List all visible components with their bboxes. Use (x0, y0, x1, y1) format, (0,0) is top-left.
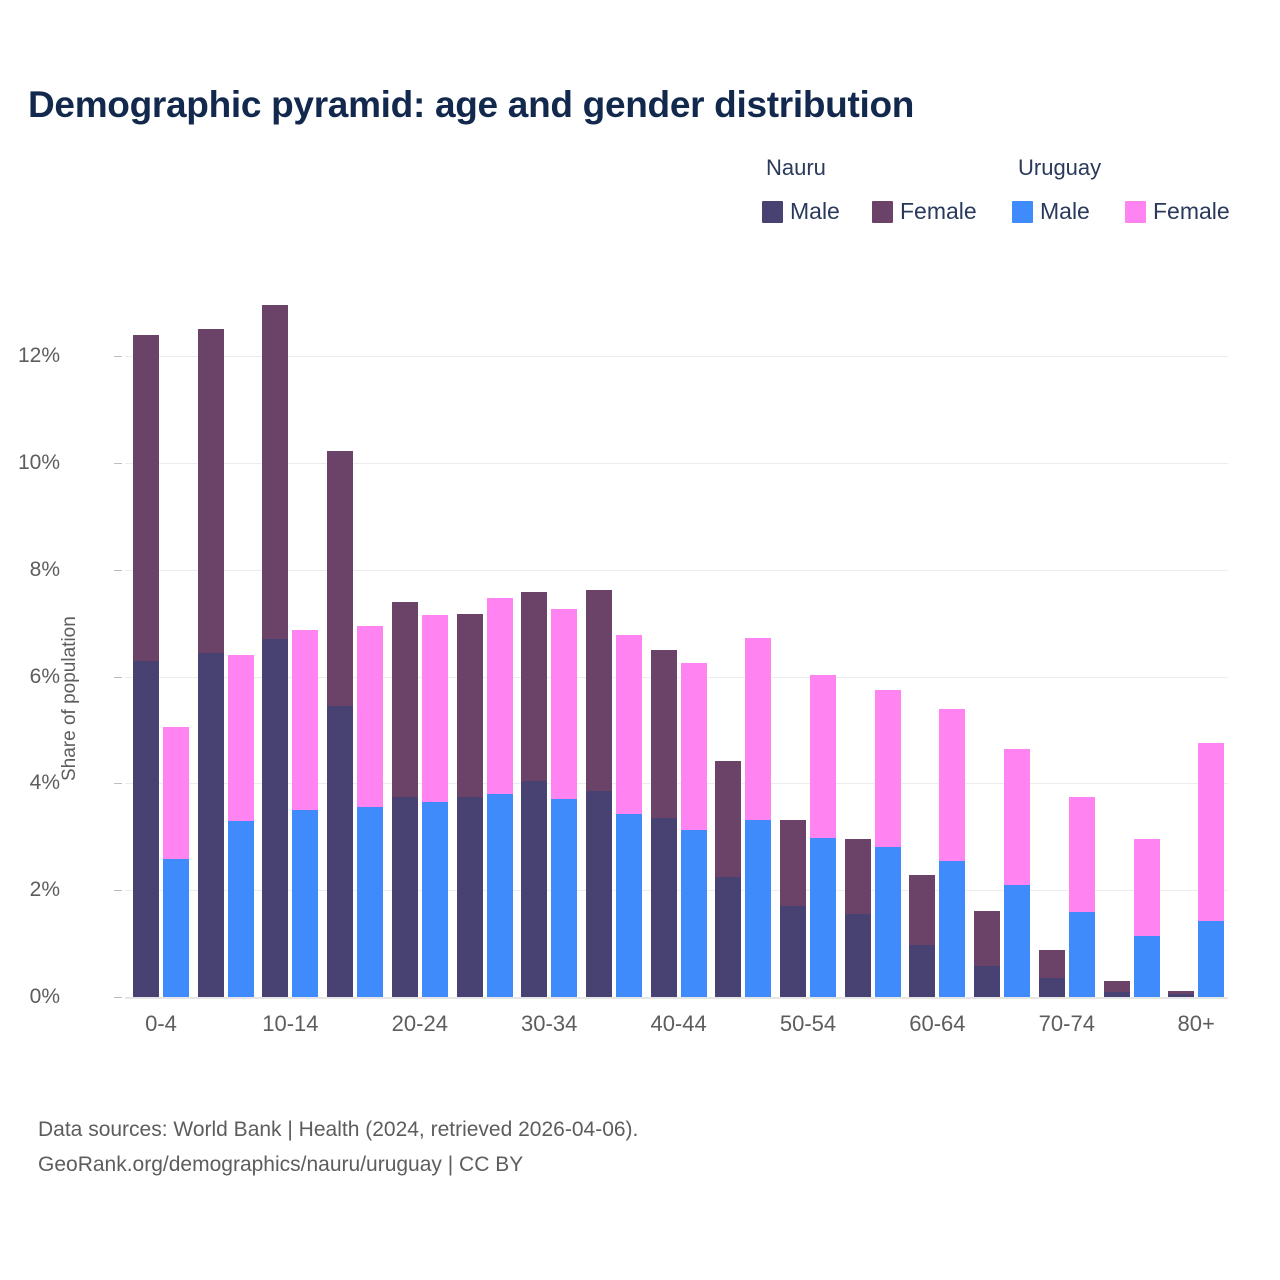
bar-segment-uruguay-female[interactable] (939, 709, 965, 861)
y-axis-tick-mark (114, 463, 122, 464)
bar-nauru[interactable] (1168, 991, 1194, 997)
bar-group (1104, 276, 1160, 997)
bar-group (1039, 276, 1095, 997)
page-title: Demographic pyramid: age and gender dist… (28, 84, 914, 126)
x-axis-tick-label: 0-4 (145, 1011, 177, 1037)
bar-segment-nauru-female[interactable] (521, 592, 547, 781)
bar-uruguay[interactable] (875, 690, 901, 997)
bar-segment-nauru-male[interactable] (1039, 978, 1065, 997)
bar-segment-nauru-male[interactable] (780, 906, 806, 997)
bar-segment-uruguay-female[interactable] (616, 635, 642, 814)
x-axis-tick-label: 10-14 (262, 1011, 318, 1037)
bar-uruguay[interactable] (745, 638, 771, 997)
bar-uruguay[interactable] (1004, 749, 1030, 997)
bar-group (780, 276, 836, 997)
bar-segment-nauru-female[interactable] (845, 839, 871, 914)
y-axis-tick-label: 6% (30, 666, 60, 687)
legend-item-nauru-male[interactable]: Male (762, 200, 840, 223)
bar-nauru[interactable] (780, 820, 806, 997)
bar-uruguay[interactable] (357, 626, 383, 997)
bar-segment-uruguay-female[interactable] (357, 626, 383, 808)
x-axis-tick-label: 40-44 (650, 1011, 706, 1037)
bar-segment-uruguay-male[interactable] (163, 859, 189, 997)
bar-segment-nauru-male[interactable] (457, 797, 483, 997)
bar-uruguay[interactable] (551, 609, 577, 997)
legend-item-uruguay-female[interactable]: Female (1125, 200, 1230, 223)
bar-nauru[interactable] (974, 911, 1000, 997)
bar-segment-nauru-male[interactable] (909, 945, 935, 997)
bar-nauru[interactable] (651, 650, 677, 997)
x-axis-tick-label: 30-34 (521, 1011, 577, 1037)
legend-group-title-uruguay: Uruguay (1018, 155, 1101, 181)
bar-segment-uruguay-male[interactable] (1069, 912, 1095, 997)
bar-segment-nauru-female[interactable] (392, 602, 418, 797)
bar-segment-uruguay-male[interactable] (875, 847, 901, 997)
y-axis-tick-mark (114, 677, 122, 678)
bar-segment-uruguay-male[interactable] (616, 814, 642, 997)
bar-nauru[interactable] (845, 839, 871, 997)
bar-uruguay[interactable] (1069, 797, 1095, 997)
bar-segment-uruguay-female[interactable] (422, 615, 448, 802)
bar-segment-uruguay-female[interactable] (551, 609, 577, 800)
bar-uruguay[interactable] (939, 709, 965, 997)
x-axis-tick-label: 20-24 (392, 1011, 448, 1037)
legend: Nauru Uruguay Male Female Male Female (740, 155, 1250, 235)
y-axis-tick-label: 12% (18, 345, 60, 366)
y-axis-tick-mark (114, 356, 122, 357)
bar-segment-nauru-male[interactable] (262, 639, 288, 997)
bar-segment-uruguay-male[interactable] (1198, 921, 1224, 997)
bar-uruguay[interactable] (1198, 743, 1224, 997)
bar-segment-nauru-male[interactable] (521, 781, 547, 997)
bar-group (651, 276, 707, 997)
bar-segment-uruguay-male[interactable] (487, 794, 513, 997)
y-axis-tick-mark (114, 997, 122, 998)
bar-uruguay[interactable] (1134, 839, 1160, 997)
bar-segment-nauru-female[interactable] (1039, 950, 1065, 978)
bar-nauru[interactable] (586, 590, 612, 997)
bar-segment-nauru-female[interactable] (715, 761, 741, 877)
y-axis-tick-mark (114, 890, 122, 891)
bar-group (327, 276, 383, 997)
bar-segment-uruguay-female[interactable] (745, 638, 771, 820)
bar-uruguay[interactable] (228, 655, 254, 997)
legend-label-nauru-male: Male (790, 200, 840, 223)
bar-segment-nauru-male[interactable] (974, 966, 1000, 997)
y-axis-tick-mark (114, 570, 122, 571)
bar-segment-nauru-male[interactable] (651, 818, 677, 997)
y-axis-tick-label: 2% (30, 879, 60, 900)
bar-segment-nauru-male[interactable] (392, 797, 418, 997)
y-axis-tick-label: 8% (30, 559, 60, 580)
y-axis-title: Share of population (59, 616, 81, 781)
bar-uruguay[interactable] (292, 630, 318, 997)
bar-segment-nauru-female[interactable] (780, 820, 806, 907)
bar-segment-nauru-female[interactable] (133, 335, 159, 661)
bar-nauru[interactable] (133, 335, 159, 997)
bar-uruguay[interactable] (163, 727, 189, 997)
bar-segment-nauru-male[interactable] (586, 791, 612, 997)
bar-segment-uruguay-female[interactable] (292, 630, 318, 811)
bar-group (974, 276, 1030, 997)
bar-segment-nauru-male[interactable] (133, 661, 159, 997)
bar-segment-nauru-male[interactable] (1168, 994, 1194, 997)
bar-nauru[interactable] (262, 305, 288, 997)
legend-swatch-icon-nauru-male (762, 201, 783, 223)
bar-segment-uruguay-female[interactable] (1004, 749, 1030, 885)
bar-segment-uruguay-female[interactable] (810, 675, 836, 838)
bar-uruguay[interactable] (681, 663, 707, 997)
bar-segment-uruguay-male[interactable] (357, 807, 383, 997)
chart-page: Demographic pyramid: age and gender dist… (0, 0, 1280, 1280)
legend-swatch-icon-nauru-female (872, 201, 893, 223)
bar-nauru[interactable] (715, 761, 741, 997)
bar-segment-uruguay-male[interactable] (422, 802, 448, 997)
bar-segment-nauru-male[interactable] (198, 653, 224, 997)
bar-uruguay[interactable] (422, 615, 448, 997)
bar-segment-nauru-female[interactable] (651, 650, 677, 818)
bar-segment-uruguay-male[interactable] (810, 838, 836, 997)
bar-segment-uruguay-female[interactable] (228, 655, 254, 821)
bar-segment-uruguay-female[interactable] (163, 727, 189, 859)
bar-uruguay[interactable] (616, 635, 642, 997)
bar-segment-uruguay-female[interactable] (487, 598, 513, 794)
plot-area: Share of population 0%2%4%6%8%10%12% 0-4… (125, 276, 1228, 997)
x-axis-tick-label: 60-64 (909, 1011, 965, 1037)
bar-segment-uruguay-female[interactable] (1134, 839, 1160, 935)
bar-group (715, 276, 771, 997)
bar-segment-uruguay-female[interactable] (1069, 797, 1095, 912)
bar-uruguay[interactable] (810, 675, 836, 997)
bar-segment-nauru-female[interactable] (974, 911, 1000, 966)
x-axis-tick-label: 80+ (1178, 1011, 1215, 1037)
footer-line-attribution: GeoRank.org/demographics/nauru/uruguay |… (38, 1148, 638, 1183)
bar-segment-uruguay-male[interactable] (1134, 936, 1160, 997)
bar-segment-uruguay-male[interactable] (745, 820, 771, 997)
legend-group-title-nauru: Nauru (766, 155, 826, 181)
bar-segment-nauru-female[interactable] (1104, 981, 1130, 992)
legend-label-uruguay-female: Female (1153, 200, 1230, 223)
bar-segment-nauru-female[interactable] (909, 875, 935, 944)
bar-segment-uruguay-male[interactable] (228, 821, 254, 997)
legend-item-nauru-female[interactable]: Female (872, 200, 977, 223)
y-axis-tick-label: 0% (30, 986, 60, 1007)
bar-segment-nauru-female[interactable] (327, 451, 353, 706)
bar-nauru[interactable] (327, 451, 353, 997)
bar-segment-uruguay-male[interactable] (292, 810, 318, 997)
footer-line-sources: Data sources: World Bank | Health (2024,… (38, 1113, 638, 1148)
y-axis-tick-label: 4% (30, 772, 60, 793)
bar-segment-nauru-female[interactable] (198, 329, 224, 652)
bar-segment-uruguay-female[interactable] (1198, 743, 1224, 920)
bar-segment-nauru-female[interactable] (262, 305, 288, 639)
y-axis-tick-label: 10% (18, 452, 60, 473)
bar-group (909, 276, 965, 997)
bar-segment-nauru-male[interactable] (715, 877, 741, 997)
bar-segment-nauru-female[interactable] (457, 614, 483, 797)
bar-group (133, 276, 189, 997)
bar-segment-uruguay-female[interactable] (875, 690, 901, 848)
legend-swatch-icon-uruguay-female (1125, 201, 1146, 223)
legend-swatch-icon-uruguay-male (1012, 201, 1033, 223)
bar-group (262, 276, 318, 997)
bar-group (1168, 276, 1224, 997)
bar-segment-uruguay-male[interactable] (551, 799, 577, 997)
bar-nauru[interactable] (1104, 981, 1130, 997)
bar-segment-uruguay-female[interactable] (681, 663, 707, 830)
y-axis-tick-mark (114, 783, 122, 784)
bar-segment-nauru-male[interactable] (845, 914, 871, 997)
bar-group (521, 276, 577, 997)
bar-segment-nauru-male[interactable] (327, 706, 353, 997)
footer: Data sources: World Bank | Health (2024,… (38, 1113, 638, 1182)
bar-segment-uruguay-male[interactable] (939, 861, 965, 997)
bar-segment-uruguay-male[interactable] (1004, 885, 1030, 997)
bar-group (845, 276, 901, 997)
bar-segment-nauru-female[interactable] (586, 590, 612, 792)
bar-uruguay[interactable] (487, 598, 513, 997)
x-axis-tick-label: 70-74 (1039, 1011, 1095, 1037)
bar-group (392, 276, 448, 997)
bar-nauru[interactable] (521, 592, 547, 997)
legend-label-nauru-female: Female (900, 200, 977, 223)
bar-nauru[interactable] (392, 602, 418, 997)
bar-group (586, 276, 642, 997)
bar-segment-uruguay-male[interactable] (681, 830, 707, 997)
legend-item-uruguay-male[interactable]: Male (1012, 200, 1090, 223)
x-axis-line (125, 997, 1228, 999)
bar-nauru[interactable] (198, 329, 224, 997)
x-axis-tick-label: 50-54 (780, 1011, 836, 1037)
bar-group (198, 276, 254, 997)
bar-nauru[interactable] (1039, 950, 1065, 997)
legend-label-uruguay-male: Male (1040, 200, 1090, 223)
bar-nauru[interactable] (457, 614, 483, 997)
bar-segment-nauru-male[interactable] (1104, 992, 1130, 997)
bar-group (457, 276, 513, 997)
bar-nauru[interactable] (909, 875, 935, 997)
